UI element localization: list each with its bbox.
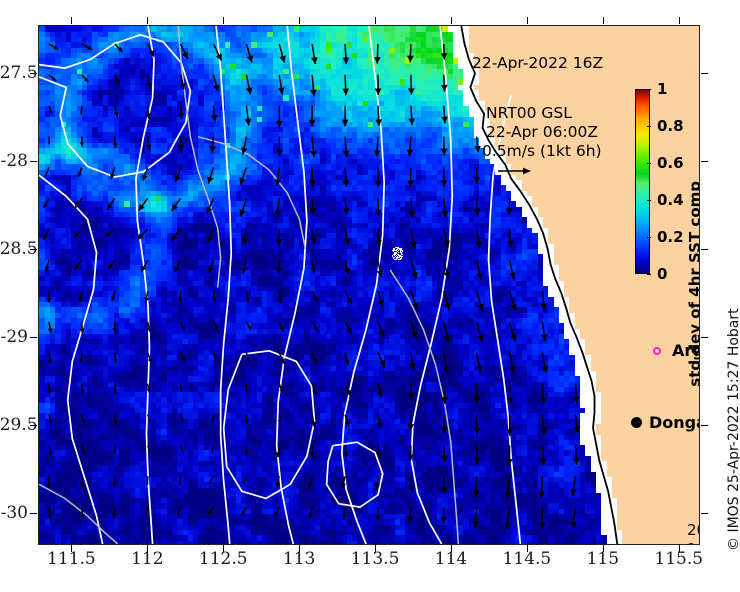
velocity-arrow-head <box>113 143 118 148</box>
velocity-arrow-head <box>573 397 580 404</box>
velocity-arrow-shaft <box>181 384 182 392</box>
velocity-arrow-head <box>473 490 480 497</box>
velocity-arrow-head <box>408 211 415 218</box>
colorbar-tick <box>647 237 651 238</box>
right-arrow-icon <box>497 166 531 176</box>
colorbar-gradient <box>635 89 650 274</box>
velocity-arrow-head <box>441 397 448 404</box>
velocity-arrow-shaft <box>49 106 52 114</box>
velocity-arrow-head <box>310 238 316 245</box>
velocity-arrow-head <box>407 56 414 63</box>
x-tick-top <box>375 17 376 24</box>
velocity-arrow-head <box>410 241 417 248</box>
x-tick-label: 112.5 <box>199 549 248 569</box>
velocity-arrow-head <box>406 149 413 156</box>
y-tick-label: -27.5 <box>0 63 28 83</box>
velocity-arrow-head <box>509 272 516 279</box>
velocity-arrow-head <box>540 303 547 310</box>
velocity-arrow-head <box>374 150 381 157</box>
legend-argo: Argo <box>653 341 700 360</box>
velocity-arrow-head <box>343 180 350 187</box>
velocity-arrow-head <box>507 241 514 248</box>
dongara-place-marker: Dongara <box>631 413 700 432</box>
velocity-arrow-head <box>47 514 52 519</box>
y-tick-label: -28 <box>0 151 28 171</box>
x-tick-label: 115.5 <box>654 549 703 569</box>
velocity-arrow-head <box>571 522 578 529</box>
colorbar-tick <box>647 89 651 90</box>
dongara-label: Dongara <box>649 413 700 432</box>
velocity-arrow-head <box>310 90 317 97</box>
velocity-arrow-head <box>538 492 545 499</box>
velocity-arrow-head <box>80 483 84 487</box>
x-tick-label: 114.5 <box>503 549 552 569</box>
colorbar-tick <box>647 126 651 127</box>
velocity-arrow-head <box>178 298 183 303</box>
velocity-arrow-shaft <box>148 415 151 423</box>
colorbar-tick-label: 0.6 <box>657 154 684 172</box>
y-tick-right <box>701 337 708 338</box>
velocity-arrow-head <box>172 204 178 211</box>
contour-line <box>342 26 384 544</box>
colorbar-tick-label: 0 <box>657 265 667 283</box>
velocity-arrow-head <box>440 517 447 524</box>
velocity-arrow-head <box>474 146 481 153</box>
y-tick-right <box>701 425 708 426</box>
velocity-arrow-head <box>112 482 116 486</box>
velocity-arrow-head <box>441 53 447 59</box>
velocity-arrow-head <box>276 121 283 127</box>
velocity-arrow-head <box>570 489 577 496</box>
velocity-arrow-head <box>113 328 117 332</box>
contour-line <box>224 351 315 499</box>
y-tick-right <box>701 73 708 74</box>
colorbar: 00.20.40.60.81 std dev of 4hr SST comp <box>635 81 700 311</box>
x-tick-top <box>603 17 604 24</box>
x-tick-top <box>451 17 452 24</box>
velocity-arrow-head <box>540 429 547 436</box>
y-tick-label: -29.5 <box>0 415 28 435</box>
velocity-arrow-head <box>375 515 381 520</box>
contour-line <box>489 94 521 544</box>
velocity-arrow-head <box>276 269 282 275</box>
velocity-arrow-shaft <box>212 445 213 453</box>
colorbar-tick <box>647 163 651 164</box>
velocity-arrow-shaft <box>244 476 246 484</box>
velocity-arrow-head <box>47 390 51 394</box>
velocity-arrow-head <box>47 298 52 303</box>
velocity-arrow-head <box>309 208 316 215</box>
velocity-arrow-head <box>506 429 513 435</box>
velocity-arrow-head <box>473 177 480 183</box>
velocity-arrow-head <box>408 455 414 461</box>
figure-root: 22-Apr-2022 16Z NRT00 GSL 22-Apr 06:00Z … <box>0 0 740 592</box>
velocity-arrow-head <box>310 151 317 158</box>
velocity-arrow-head <box>506 208 513 214</box>
colorbar-tick-label: 0.4 <box>657 191 684 209</box>
velocity-arrow-head <box>310 452 315 457</box>
velocity-arrow-head <box>343 151 350 158</box>
velocity-arrow-shaft <box>209 476 213 483</box>
velocity-arrow-head <box>311 57 318 64</box>
velocity-arrow-head <box>112 514 117 519</box>
velocity-arrow-head <box>441 180 448 187</box>
y-tick-right <box>701 161 708 162</box>
contour-line <box>411 26 452 544</box>
y-tick-label: -28.5 <box>0 239 28 259</box>
depth-key-200m: 200m <box>687 521 700 540</box>
velocity-arrow-head <box>408 118 415 125</box>
dongara-dot-icon <box>631 417 642 428</box>
velocity-arrow-head <box>374 57 381 64</box>
colorbar-tick-label: 1 <box>657 80 667 98</box>
velocity-arrow-head <box>244 451 248 455</box>
map-overlay-layer <box>39 26 699 544</box>
velocity-arrow-head <box>444 335 450 342</box>
velocity-arrow-shaft <box>213 353 215 362</box>
colorbar-tick <box>647 200 651 201</box>
argo-marker-icon <box>653 347 661 355</box>
velocity-arrow-shaft <box>181 415 183 422</box>
contour-line <box>277 26 307 544</box>
velocity-arrow-head <box>309 180 316 187</box>
velocity-arrow-head <box>540 398 547 405</box>
velocity-arrow-head <box>476 273 483 280</box>
velocity-arrow-head <box>80 389 84 393</box>
source-model-label: NRT00 GSL <box>486 104 572 122</box>
velocity-arrow-head <box>80 142 84 146</box>
velocity-arrow-head <box>573 458 580 465</box>
velocity-arrow-head <box>377 391 383 397</box>
y-tick <box>30 513 37 514</box>
velocity-arrow-shaft <box>46 167 49 175</box>
contour-line <box>136 26 154 544</box>
bathymetry-depth-key: 200m 1000m <box>687 521 700 545</box>
velocity-arrow-head <box>375 181 382 187</box>
map-plot-area[interactable]: 22-Apr-2022 16Z NRT00 GSL 22-Apr 06:00Z … <box>38 25 700 545</box>
velocity-arrow-head <box>411 332 417 339</box>
velocity-arrow-shaft <box>180 476 181 484</box>
velocity-arrow-shaft <box>178 507 181 515</box>
velocity-arrow-head <box>245 389 249 393</box>
velocity-arrow-head <box>342 89 349 96</box>
velocity-arrow-head <box>213 85 220 92</box>
velocity-arrow-head <box>442 211 449 218</box>
velocity-arrow-head <box>344 238 351 245</box>
velocity-arrow-head <box>444 303 450 310</box>
bathymetry-1000m-contours <box>39 26 520 544</box>
y-tick-right <box>701 249 708 250</box>
velocity-arrow-head <box>178 114 184 120</box>
datestamp-label: 22-Apr-2022 16Z <box>472 54 603 72</box>
velocity-arrow-head <box>241 268 247 274</box>
contour-line <box>178 26 220 288</box>
velocity-arrow-head <box>375 88 382 94</box>
velocity-arrow-head <box>477 304 483 311</box>
velocity-arrow-head <box>509 366 516 373</box>
velocity-arrow-head <box>441 427 448 434</box>
bathymetry-200m-contours <box>39 26 458 544</box>
contour-line <box>327 442 383 507</box>
x-tick-top <box>223 17 224 24</box>
velocity-arrow-head <box>476 365 483 372</box>
velocity-arrow-head <box>344 268 350 274</box>
velocity-arrow-head <box>441 487 448 494</box>
velocity-arrow-shaft <box>146 507 148 515</box>
y-tick <box>30 337 37 338</box>
velocity-arrow-head <box>279 55 285 62</box>
velocity-arrow-head <box>342 514 347 519</box>
velocity-arrow-shaft <box>148 445 150 452</box>
copyright-label: © IMOS 25-Apr-2022 15:27 Hobart <box>726 308 740 551</box>
velocity-arrow-head <box>474 397 481 404</box>
velocity-arrow-head <box>474 209 481 216</box>
velocity-arrow-head <box>113 359 117 363</box>
legend-argo-label: Argo <box>672 341 700 360</box>
colorbar-tick <box>647 274 651 275</box>
velocity-arrow-head <box>114 112 119 117</box>
velocity-arrow-head <box>246 87 253 94</box>
y-tick-label: -30 <box>0 503 28 523</box>
y-tick <box>30 161 37 162</box>
depth-key-1000m: 1000m <box>687 540 700 545</box>
velocity-arrow-head <box>139 204 145 211</box>
velocity-arrow-head <box>276 239 283 246</box>
y-tick-right <box>701 513 708 514</box>
velocity-arrow-head <box>474 428 481 435</box>
velocity-arrow-head <box>443 367 450 374</box>
velocity-arrow-head <box>209 146 216 153</box>
velocity-arrow-head <box>409 363 416 370</box>
colorbar-tick-label: 0.8 <box>657 117 684 135</box>
velocity-arrow-head <box>475 241 482 248</box>
x-tick-top <box>147 17 148 24</box>
velocity-arrow-head <box>477 335 483 342</box>
velocity-arrow-head <box>542 366 549 373</box>
x-tick-label: 112 <box>131 549 163 569</box>
y-tick-label: -29 <box>0 327 28 347</box>
velocity-arrow-head <box>46 483 51 488</box>
velocity-arrow-head <box>377 422 383 428</box>
velocity-arrow-head <box>278 87 285 94</box>
contour-line <box>390 270 458 544</box>
velocity-arrow-head <box>375 210 382 217</box>
velocity-arrow-head <box>441 149 448 156</box>
x-tick-top <box>299 17 300 24</box>
velocity-arrow-shaft <box>81 106 82 115</box>
velocity-arrow-head <box>407 181 414 188</box>
velocity-arrow-head <box>178 145 184 151</box>
velocity-arrow-head <box>308 483 313 488</box>
x-tick-label: 113 <box>283 549 315 569</box>
velocity-arrow-head <box>80 514 85 519</box>
velocity-arrow-head <box>441 455 448 462</box>
x-tick-label: 111.5 <box>47 549 96 569</box>
velocity-arrow-shaft <box>181 445 183 452</box>
velocity-arrow-head <box>309 120 316 126</box>
velocity-arrow-head <box>408 394 415 401</box>
velocity-arrow-head <box>342 57 349 64</box>
contour-line <box>39 484 118 544</box>
contour-line <box>198 137 305 249</box>
velocity-arrow-head <box>276 150 283 157</box>
velocity-arrow-head <box>146 83 152 89</box>
x-tick-top <box>71 17 72 24</box>
colorbar-tick-label: 0.2 <box>657 228 684 246</box>
x-tick-top <box>527 17 528 24</box>
x-tick-label: 113.5 <box>351 549 400 569</box>
velocity-arrow-head <box>113 390 117 394</box>
velocity-arrow-head <box>241 238 247 245</box>
velocity-arrow-head <box>441 117 448 124</box>
x-tick-label: 115 <box>587 549 619 569</box>
source-validtime-label: 22-Apr 06:00Z <box>486 123 598 141</box>
velocity-arrow-head <box>245 420 249 424</box>
x-tick-label: 114 <box>435 549 467 569</box>
velocity-arrow-head <box>342 120 349 126</box>
velocity-arrow-head <box>472 521 479 528</box>
velocity-arrow-head <box>539 523 546 530</box>
x-tick-top <box>679 17 680 24</box>
velocity-arrow-head <box>211 115 218 122</box>
velocity-arrow-head <box>407 516 414 523</box>
velocity-arrow-head <box>275 483 280 488</box>
velocity-arrow-head <box>474 458 481 465</box>
reference-vector-label: 0.5m/s (1kt 6h) <box>482 142 602 160</box>
velocity-arrow-head <box>408 486 415 493</box>
velocity-arrow-head <box>146 113 152 119</box>
velocity-arrow-head <box>540 459 547 466</box>
velocity-arrow-head <box>408 88 415 95</box>
